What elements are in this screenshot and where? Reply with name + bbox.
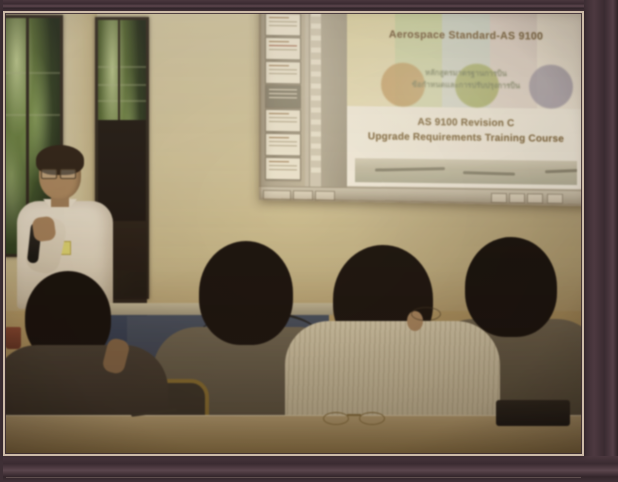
frame-right-band [584,0,618,482]
frame-bottom-band [0,456,618,482]
framed-photograph: Aerospace Standard-AS 9100 หลักสูตรมาตรฐ… [0,0,618,482]
screen-border [259,11,584,206]
eyeglasses-icon [41,169,77,177]
photo-content: Aerospace Standard-AS 9100 หลักสูตรมาตรฐ… [3,11,584,456]
eyeglasses-icon [411,307,441,321]
presenter-hand [31,216,56,243]
desk-device [496,400,570,426]
attendee-head [199,241,293,345]
frame-top-band [0,0,618,11]
projection-screen: Aerospace Standard-AS 9100 หลักสูตรมาตรฐ… [259,11,584,206]
frame-hairline [6,477,581,478]
eyeglasses-on-desk-icon [323,412,385,424]
